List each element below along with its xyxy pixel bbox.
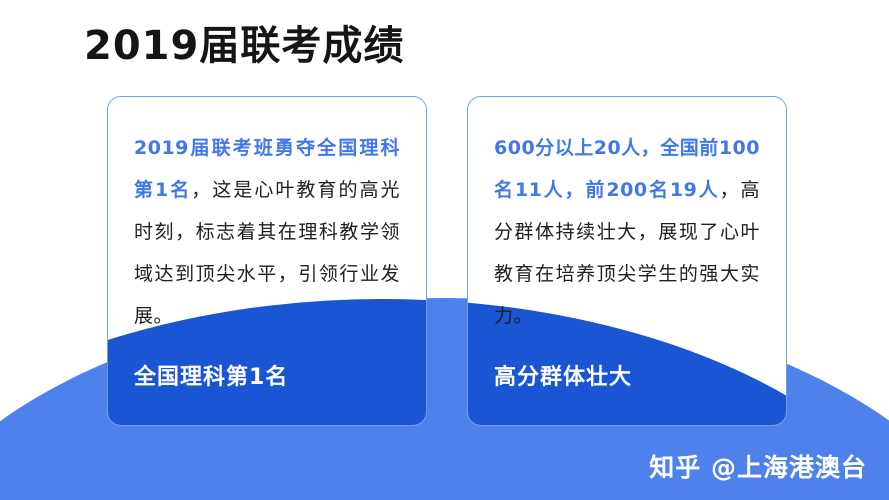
card-description-text: ，高分群体持续壮大，展现了心叶教育在培养顶尖学生的强大实力。 (494, 179, 760, 327)
stat-card-national-rank[interactable]: 2019届联考班勇夺全国理科第1名，这是心叶教育的高光时刻，标志着其在理科教学领… (107, 96, 427, 426)
stat-card-high-scorers[interactable]: 600分以上20人，全国前100名11人，前200名19人，高分群体持续壮大，展… (467, 96, 787, 426)
card-footer-label: 全国理科第1名 (134, 359, 288, 391)
card-body-text: 2019届联考班勇夺全国理科第1名，这是心叶教育的高光时刻，标志着其在理科教学领… (108, 97, 426, 337)
card-footer-label: 高分群体壮大 (494, 359, 632, 391)
watermark-label: 知乎 @上海港澳台 (649, 448, 867, 484)
infographic-slide: 2019届联考成绩 2019届联考班勇夺全国理科第1名，这是心叶教育的高光时刻，… (0, 0, 889, 500)
card-body-text: 600分以上20人，全国前100名11人，前200名19人，高分群体持续壮大，展… (468, 97, 786, 337)
page-title: 2019届联考成绩 (84, 20, 404, 72)
card-description-text: ，这是心叶教育的高光时刻，标志着其在理科教学领域达到顶尖水平，引领行业发展。 (134, 179, 400, 327)
